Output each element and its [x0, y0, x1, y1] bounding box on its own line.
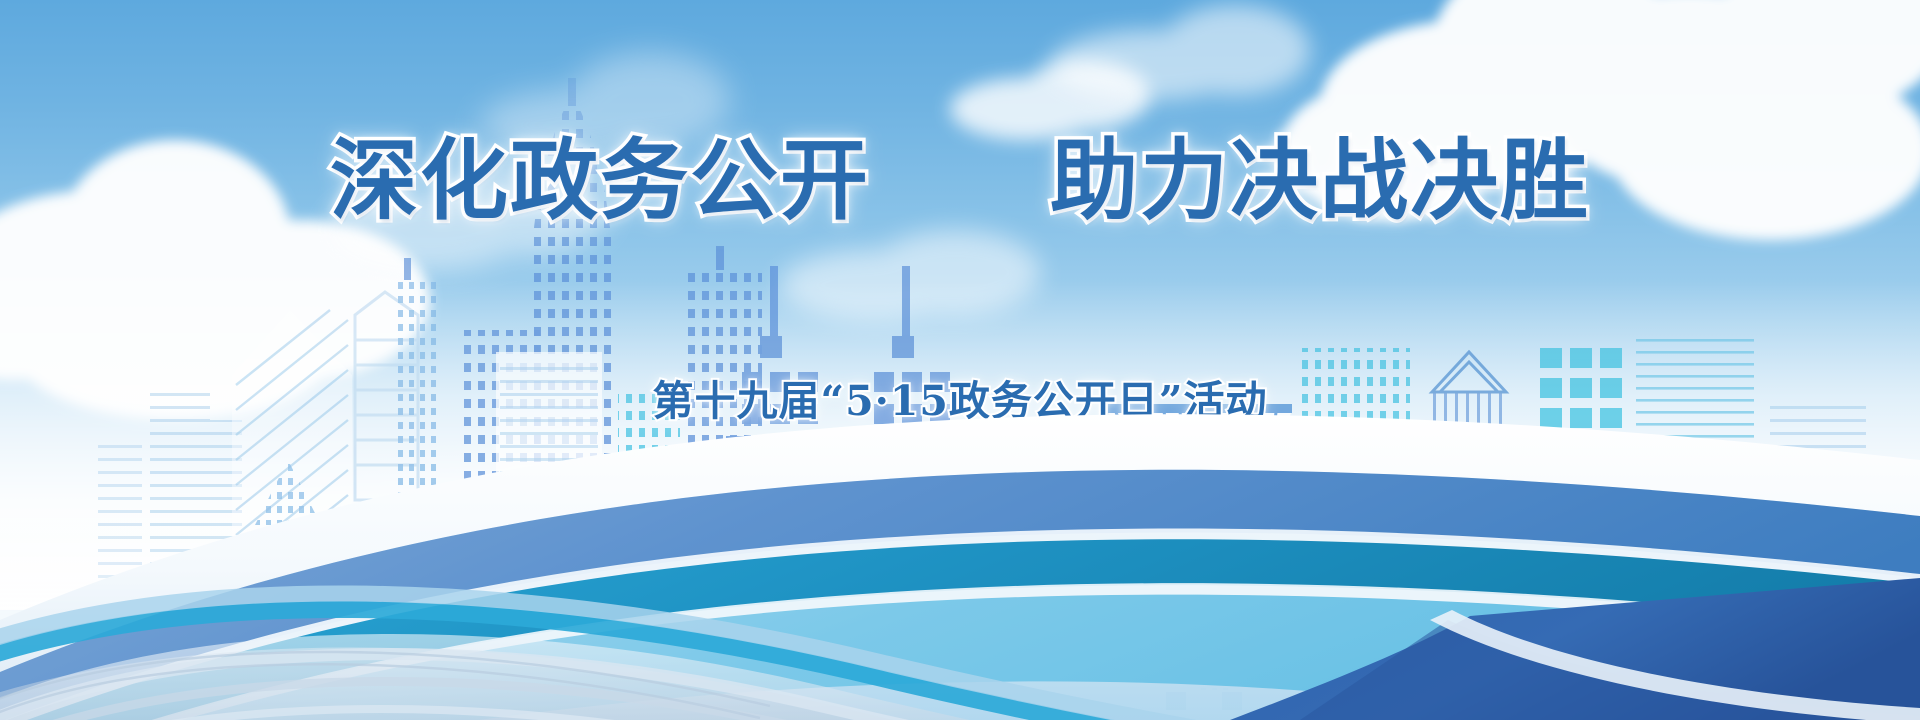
- banner-root: 深化政务公开 助力决战决胜 第十九届“5·15政务公开日”活动: [0, 0, 1920, 720]
- wave-ribbon-icon: [0, 320, 1920, 720]
